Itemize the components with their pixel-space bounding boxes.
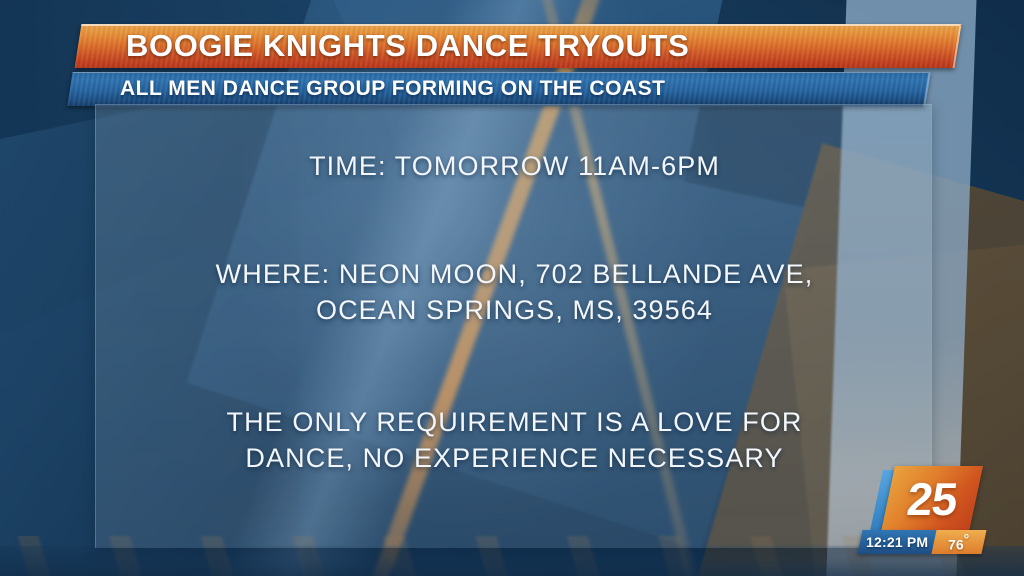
content-panel: TIME: TOMORROW 11AM-6PM WHERE: NEON MOON… (95, 104, 932, 548)
degree-symbol: ° (964, 531, 970, 547)
headline-text: BOOGIE KNIGHTS DANCE TRYOUTS (126, 28, 689, 64)
subheadline-bar: ALL MEN DANCE GROUP FORMING ON THE COAST (67, 72, 930, 106)
info-line: TIME: TOMORROW 11AM-6PM (96, 149, 933, 185)
content-panel-body: TIME: TOMORROW 11AM-6PM WHERE: NEON MOON… (96, 105, 933, 549)
clock-readout: 12:21 PM (857, 530, 936, 554)
info-block-time: TIME: TOMORROW 11AM-6PM (96, 149, 933, 185)
station-bug: 25 12:21 PM 76° (866, 464, 986, 556)
station-channel-number: 25 (884, 466, 979, 532)
info-block-where: WHERE: NEON MOON, 702 BELLANDE AVE, OCEA… (96, 257, 933, 329)
temperature-text: 76° (948, 531, 969, 553)
clock-time-text: 12:21 PM (866, 534, 928, 550)
info-line: WHERE: NEON MOON, 702 BELLANDE AVE, (96, 257, 933, 293)
headline-banner-group: BOOGIE KNIGHTS DANCE TRYOUTS ALL MEN DAN… (0, 24, 1024, 106)
broadcast-graphic-stage: BOOGIE KNIGHTS DANCE TRYOUTS ALL MEN DAN… (0, 0, 1024, 576)
info-block-requirement: THE ONLY REQUIREMENT IS A LOVE FOR DANCE… (96, 405, 933, 477)
temperature-value: 76 (948, 537, 964, 553)
info-line: DANCE, NO EXPERIENCE NECESSARY (96, 441, 933, 477)
station-logo: 25 (881, 466, 983, 532)
info-line: OCEAN SPRINGS, MS, 39564 (96, 293, 933, 329)
temperature-readout: 76° (931, 530, 986, 554)
subheadline-text: ALL MEN DANCE GROUP FORMING ON THE COAST (120, 77, 665, 101)
station-bug-info-strip: 12:21 PM 76° (857, 530, 986, 554)
headline-bar: BOOGIE KNIGHTS DANCE TRYOUTS (75, 24, 962, 68)
info-line: THE ONLY REQUIREMENT IS A LOVE FOR (96, 405, 933, 441)
